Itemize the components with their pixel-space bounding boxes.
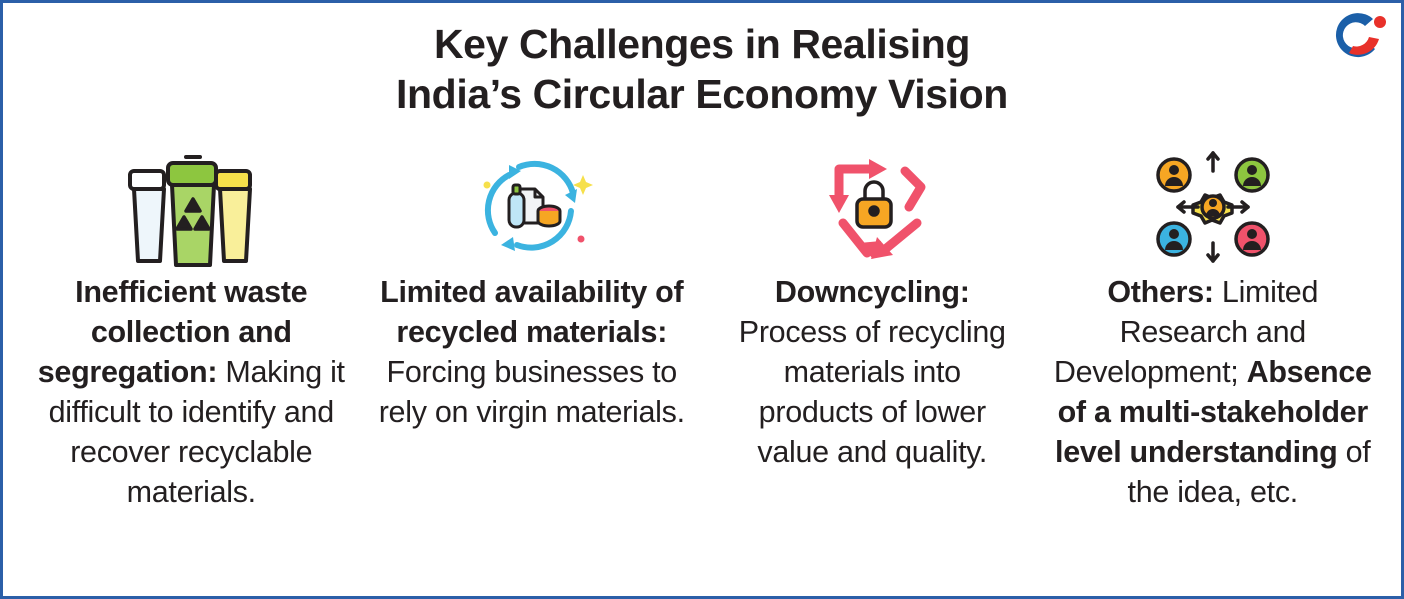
- challenge-bold-4a: Others:: [1107, 275, 1213, 309]
- challenge-bold-2: Limited availability of recycled materia…: [380, 275, 683, 349]
- challenge-bold-3: Downcycling:: [775, 275, 970, 309]
- challenge-rest-3: Process of recycling materials into prod…: [739, 315, 1006, 469]
- multi-stakeholder-network-icon: [1138, 141, 1288, 273]
- page-title: Key Challenges in Realising India’s Circ…: [3, 3, 1401, 119]
- poster-container: Key Challenges in Realising India’s Circ…: [0, 0, 1404, 599]
- brand-logo: [1329, 9, 1391, 65]
- challenge-caption-4: Others: Limited Research and Development…: [1053, 273, 1373, 513]
- challenge-item-2: Limited availability of recycled materia…: [362, 141, 703, 513]
- challenge-item-3: Downcycling: Process of recycling materi…: [702, 141, 1043, 513]
- challenge-columns: Inefficient waste collection and segrega…: [3, 119, 1401, 513]
- recycling-bins-icon: [116, 141, 266, 273]
- downcycling-arrows-icon: [797, 141, 947, 273]
- challenge-caption-1: Inefficient waste collection and segrega…: [36, 273, 346, 513]
- challenge-caption-2: Limited availability of recycled materia…: [377, 273, 687, 433]
- challenge-caption-3: Downcycling: Process of recycling materi…: [737, 273, 1007, 473]
- page-title-line-2: India’s Circular Economy Vision: [43, 69, 1361, 119]
- challenge-item-4: Others: Limited Research and Development…: [1043, 141, 1384, 513]
- page-title-line-1: Key Challenges in Realising: [43, 19, 1361, 69]
- recycled-materials-cycle-icon: [457, 141, 607, 273]
- challenge-rest-2: Forcing businesses to rely on virgin mat…: [379, 355, 685, 429]
- challenge-item-1: Inefficient waste collection and segrega…: [21, 141, 362, 513]
